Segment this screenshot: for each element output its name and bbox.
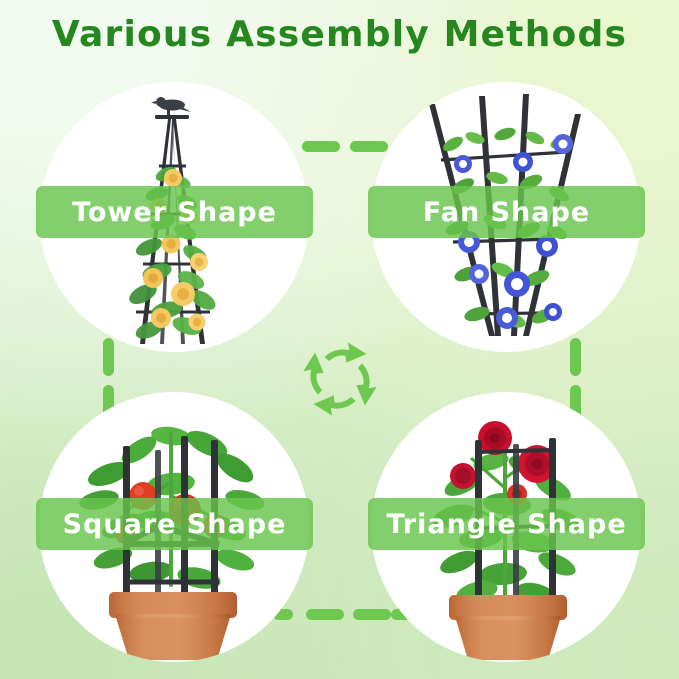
label-banner-triangle-shape[interactable]: Triangle Shape (368, 498, 645, 550)
label-text-tower-shape: Tower Shape (72, 197, 277, 228)
cycle-arrows-graphic (301, 340, 379, 418)
label-text-square-shape: Square Shape (63, 509, 287, 540)
bird-finial-icon (151, 97, 191, 116)
label-banner-tower-shape[interactable]: Tower Shape (36, 186, 313, 238)
page-title: Various Assembly Methods (0, 14, 679, 55)
label-banner-square-shape[interactable]: Square Shape (36, 498, 313, 550)
recycle-cycle-icon (301, 340, 379, 418)
label-banner-fan-shape[interactable]: Fan Shape (368, 186, 645, 238)
dash-segment (306, 609, 344, 620)
label-text-triangle-shape: Triangle Shape (386, 509, 626, 540)
label-text-fan-shape: Fan Shape (423, 197, 590, 228)
